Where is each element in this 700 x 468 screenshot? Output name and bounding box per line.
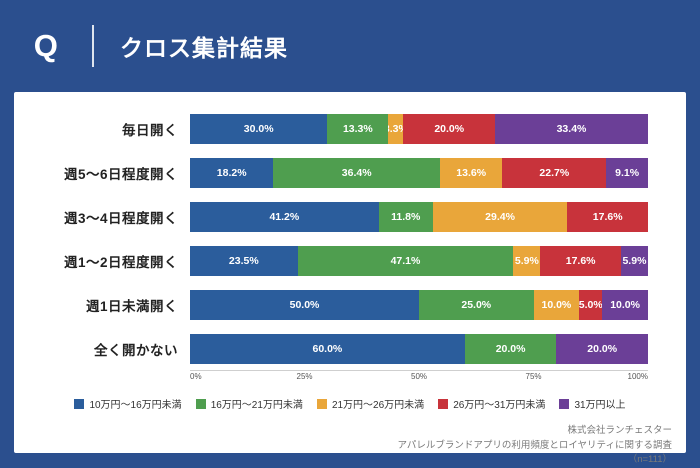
axis-tick-label: 100% <box>628 372 648 381</box>
stacked-bar: 50.0%25.0%10.0%5.0%10.0% <box>190 290 648 320</box>
bar-segment: 20.0% <box>403 114 495 144</box>
bar-segment: 20.0% <box>556 334 648 364</box>
legend-label: 21万円～26万円未満 <box>332 396 424 411</box>
legend-swatch <box>196 399 206 409</box>
chart-row: 週1日未満開く50.0%25.0%10.0%5.0%10.0% <box>14 290 686 320</box>
category-label: 全く開かない <box>14 339 190 359</box>
legend-item[interactable]: 16万円～21万円未満 <box>196 396 303 411</box>
axis-tick-label: 50% <box>411 372 427 381</box>
legend-item[interactable]: 31万円以上 <box>559 396 625 411</box>
stacked-bar: 60.0%20.0%20.0% <box>190 334 648 364</box>
category-label: 週3〜4日程度開く <box>14 207 190 227</box>
category-label: 週1日未満開く <box>14 295 190 315</box>
bar-segment: 5.0% <box>579 290 602 320</box>
legend-swatch <box>74 399 84 409</box>
slide-header: Q クロス集計結果 <box>0 0 700 92</box>
legend-label: 26万円～31万円未満 <box>453 396 545 411</box>
bar-segment: 11.8% <box>379 202 433 232</box>
question-marker: Q <box>0 28 92 64</box>
chart-row: 毎日開く30.0%13.3%3.3%20.0%33.4% <box>14 114 686 144</box>
x-axis-line <box>190 370 648 371</box>
bar-segment: 3.3% <box>388 114 403 144</box>
legend-item[interactable]: 10万円～16万円未満 <box>74 396 181 411</box>
chart-row: 週5〜6日程度開く18.2%36.4%13.6%22.7%9.1% <box>14 158 686 188</box>
legend-label: 10万円～16万円未満 <box>89 396 181 411</box>
legend-swatch <box>559 399 569 409</box>
source-note: 株式会社ランチェスター アパレルブランドアプリの利用頻度とロイヤリティに関する調… <box>12 424 672 468</box>
source-company: 株式会社ランチェスター <box>12 424 672 439</box>
bar-segment: 17.6% <box>567 202 648 232</box>
category-label: 毎日開く <box>14 119 190 139</box>
bar-segment: 36.4% <box>273 158 440 188</box>
bar-segment: 10.0% <box>602 290 648 320</box>
legend-item[interactable]: 26万円～31万円未満 <box>438 396 545 411</box>
bar-segment: 47.1% <box>298 246 514 276</box>
legend-label: 16万円～21万円未満 <box>211 396 303 411</box>
stacked-bar: 41.2%11.8%29.4%17.6% <box>190 202 648 232</box>
chart-row: 週1〜2日程度開く23.5%47.1%5.9%17.6%5.9% <box>14 246 686 276</box>
stacked-bar-chart: 毎日開く30.0%13.3%3.3%20.0%33.4%週5〜6日程度開く18.… <box>14 92 686 377</box>
stacked-bar: 30.0%13.3%3.3%20.0%33.4% <box>190 114 648 144</box>
stacked-bar: 23.5%47.1%5.9%17.6%5.9% <box>190 246 648 276</box>
legend-swatch <box>438 399 448 409</box>
bar-segment: 29.4% <box>433 202 568 232</box>
bar-segment: 50.0% <box>190 290 419 320</box>
source-sample-size: （n=111） <box>12 453 672 468</box>
bar-segment: 30.0% <box>190 114 327 144</box>
chart-row: 全く開かない60.0%20.0%20.0% <box>14 334 686 364</box>
bar-segment: 13.3% <box>327 114 388 144</box>
chart-row: 週3〜4日程度開く41.2%11.8%29.4%17.6% <box>14 202 686 232</box>
bar-segment: 22.7% <box>502 158 606 188</box>
x-axis-ticks: 0%25%50%75%100% <box>190 372 648 388</box>
bar-segment: 17.6% <box>540 246 621 276</box>
chart-rows: 毎日開く30.0%13.3%3.3%20.0%33.4%週5〜6日程度開く18.… <box>14 114 686 378</box>
source-survey: アパレルブランドアプリの利用頻度とロイヤリティに関する調査 <box>12 439 672 454</box>
bar-segment: 18.2% <box>190 158 273 188</box>
category-label: 週1〜2日程度開く <box>14 251 190 271</box>
slide-root: Q クロス集計結果 毎日開く30.0%13.3%3.3%20.0%33.4%週5… <box>0 0 700 467</box>
bar-segment: 41.2% <box>190 202 379 232</box>
bar-segment: 5.9% <box>621 246 648 276</box>
bar-segment: 23.5% <box>190 246 298 276</box>
bar-segment: 5.9% <box>513 246 540 276</box>
legend-label: 31万円以上 <box>574 396 625 411</box>
bar-segment: 13.6% <box>440 158 502 188</box>
bar-segment: 20.0% <box>465 334 557 364</box>
legend-item[interactable]: 21万円～26万円未満 <box>317 396 424 411</box>
bar-segment: 10.0% <box>534 290 580 320</box>
legend-swatch <box>317 399 327 409</box>
category-label: 週5〜6日程度開く <box>14 163 190 183</box>
stacked-bar: 18.2%36.4%13.6%22.7%9.1% <box>190 158 648 188</box>
axis-tick-label: 0% <box>190 372 202 381</box>
chart-card: 毎日開く30.0%13.3%3.3%20.0%33.4%週5〜6日程度開く18.… <box>14 92 686 453</box>
bar-segment: 60.0% <box>190 334 465 364</box>
chart-legend: 10万円～16万円未満16万円～21万円未満21万円～26万円未満26万円～31… <box>14 396 686 411</box>
bar-segment: 9.1% <box>606 158 648 188</box>
axis-tick-label: 25% <box>296 372 312 381</box>
bar-segment: 25.0% <box>419 290 534 320</box>
bar-segment: 33.4% <box>495 114 648 144</box>
page-title: クロス集計結果 <box>120 29 288 63</box>
header-divider <box>92 25 94 67</box>
axis-tick-label: 75% <box>525 372 541 381</box>
